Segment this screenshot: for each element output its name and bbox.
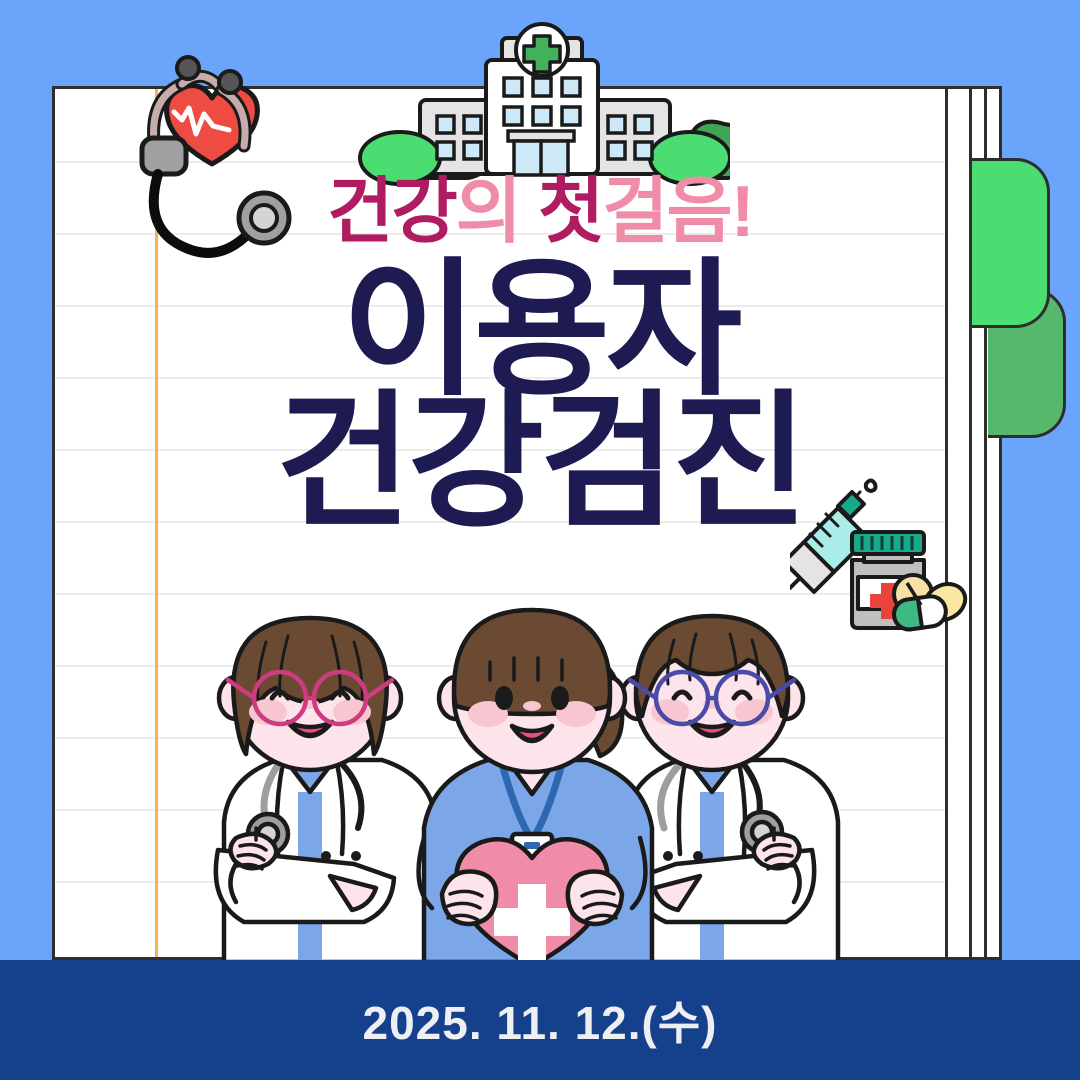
subtitle-part-light-1: 의 (456, 172, 538, 252)
nurse-center (419, 610, 652, 966)
subtitle: 건강의 첫걸음! (0, 176, 1080, 248)
event-date-text: 2025. 11. 12.(수) (363, 987, 718, 1053)
title-line-2: 건강검진 (0, 394, 1080, 532)
headline-block: 건강의 첫걸음! 이용자 건강검진 (0, 176, 1080, 531)
poster-canvas: 건강의 첫걸음! 이용자 건강검진 2025. 11. 12.(수) (0, 0, 1080, 1080)
subtitle-part-light-2: 걸음! (602, 172, 752, 252)
title-line-1: 이용자 (0, 262, 1080, 400)
subtitle-part-dark-2: 첫 (538, 172, 602, 252)
medical-staff-group (180, 606, 900, 971)
doctor-left (216, 618, 436, 962)
date-bar: 2025. 11. 12.(수) (0, 960, 1080, 1080)
subtitle-part-dark-1: 건강 (327, 172, 455, 252)
